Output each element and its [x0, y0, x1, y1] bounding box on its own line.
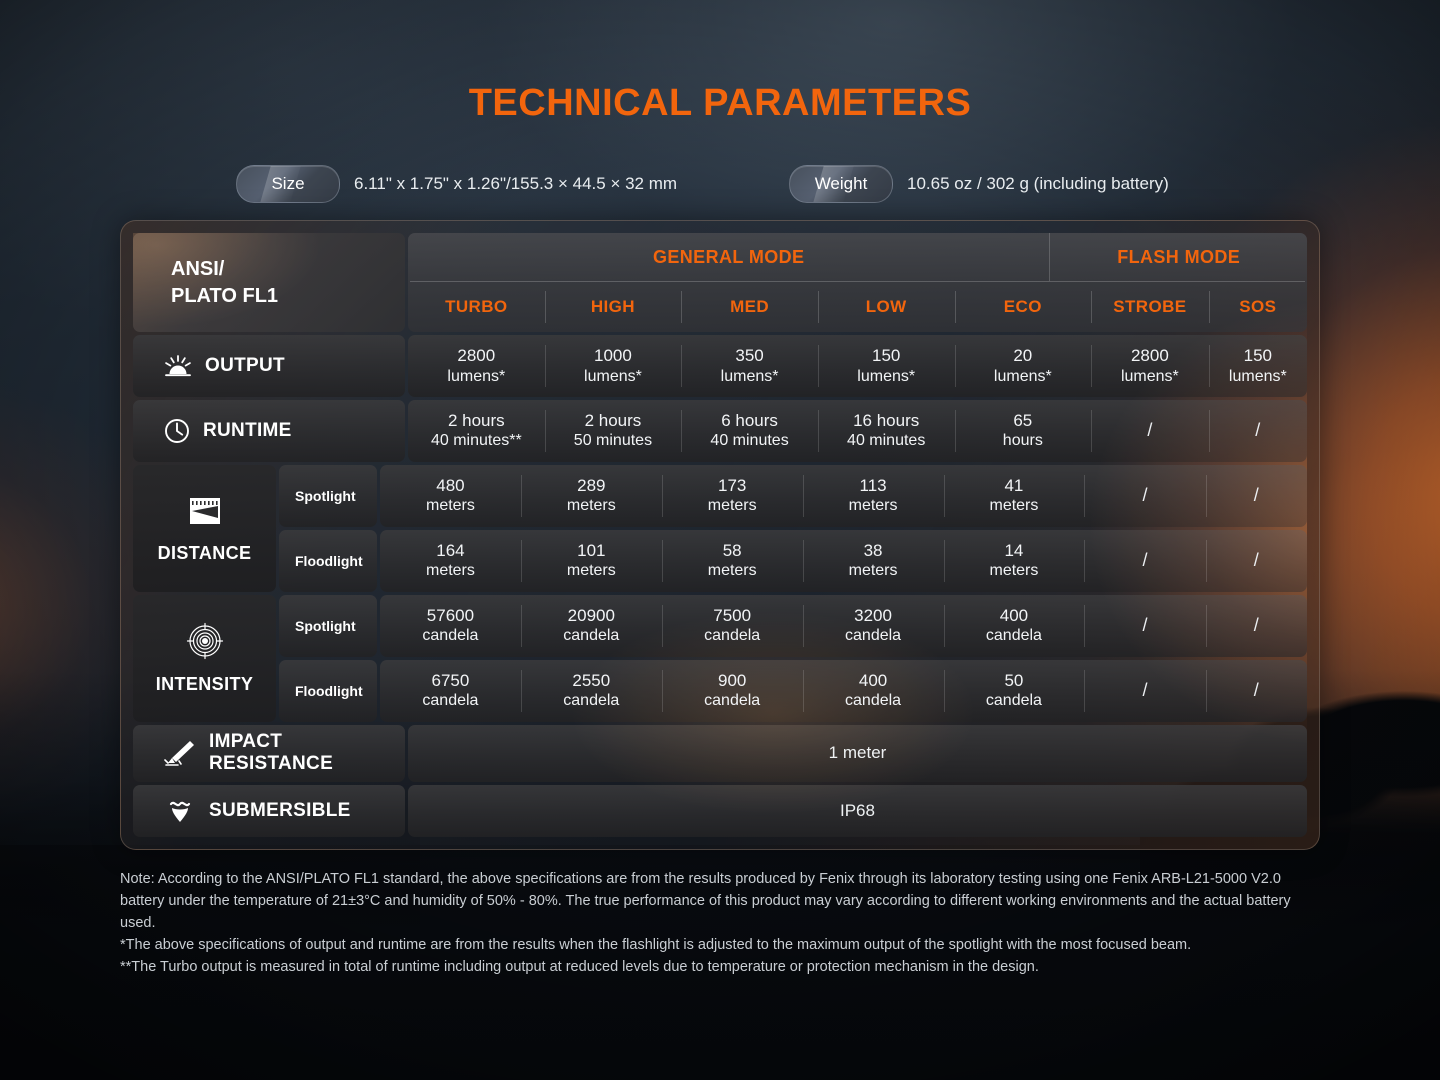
- row-distance: DISTANCE Spotlight 480meters 289meters 1…: [133, 465, 1307, 592]
- mode-group-flash: FLASH MODE: [1050, 233, 1307, 281]
- cell-output-high: 1000lumens*: [545, 335, 682, 397]
- cell-output-med: 350lumens*: [681, 335, 818, 397]
- value: 900: [718, 671, 746, 691]
- cell-dist-spot-high: 289meters: [521, 465, 662, 527]
- weight-pill-label: Weight: [815, 174, 868, 194]
- cell-runtime-strobe: /: [1091, 400, 1209, 462]
- mode-strobe: STROBE: [1091, 282, 1209, 332]
- impact-line1: IMPACT: [209, 731, 282, 752]
- specs-table: ANSI/ PLATO FL1 GENERAL MODE FLASH MODE …: [133, 233, 1307, 837]
- unit: candela: [986, 626, 1042, 645]
- value: /: [1254, 550, 1259, 572]
- cell-runtime-turbo: 2 hours40 minutes**: [408, 400, 545, 462]
- mode-high: HIGH: [545, 282, 682, 332]
- sunburst-icon: [163, 354, 193, 378]
- row-impact-value-area: 1 meter: [408, 725, 1307, 783]
- value-line1: 16 hours: [853, 411, 919, 431]
- intensity-spotlight-values: 57600candela 20900candela 7500candela 32…: [380, 595, 1307, 657]
- mode-group-row: GENERAL MODE FLASH MODE: [408, 233, 1307, 281]
- distance-spotlight-values: 480meters 289meters 173meters 113meters …: [380, 465, 1307, 527]
- row-label-output: OUTPUT: [133, 335, 405, 397]
- cell-int-flood-sos: /: [1206, 660, 1307, 722]
- value: 3200: [854, 606, 892, 626]
- value: 1000: [594, 346, 632, 366]
- mode-sos: SOS: [1209, 282, 1307, 332]
- row-submersible-value-area: IP68: [408, 785, 1307, 837]
- distance-floodlight-values: 164meters 101meters 58meters 38meters 14…: [380, 530, 1307, 592]
- cell-runtime-eco: 65hours: [955, 400, 1092, 462]
- cell-int-flood-turbo: 6750candela: [380, 660, 521, 722]
- value: 150: [872, 346, 900, 366]
- value: 113: [860, 476, 887, 496]
- unit: lumens*: [721, 367, 779, 386]
- size-spec: Size 6.11" x 1.75" x 1.26"/155.3 × 44.5 …: [236, 165, 677, 203]
- value: 41: [1004, 476, 1023, 496]
- cell-dist-flood-strobe: /: [1084, 530, 1205, 592]
- cell-dist-spot-sos: /: [1206, 465, 1307, 527]
- value: 14: [1004, 541, 1023, 561]
- value: 164: [436, 541, 464, 561]
- row-label-distance-text: DISTANCE: [158, 543, 252, 564]
- page-root: TECHNICAL PARAMETERS Size 6.11" x 1.75" …: [0, 0, 1440, 1080]
- unit: meters: [849, 561, 898, 580]
- value-line1: 6 hours: [721, 411, 778, 431]
- value: 400: [1000, 606, 1028, 626]
- row-label-distance: DISTANCE: [133, 465, 276, 592]
- row-label-submersible: SUBMERSIBLE: [133, 785, 405, 837]
- size-pill-label: Size: [271, 174, 304, 194]
- value-line1: 65: [1013, 411, 1032, 431]
- cell-dist-flood-sos: /: [1206, 530, 1307, 592]
- size-pill: Size: [236, 165, 340, 203]
- target-icon: [186, 622, 224, 660]
- footnotes: Note: According to the ANSI/PLATO FL1 st…: [120, 868, 1326, 978]
- value-line1: 2 hours: [585, 411, 642, 431]
- specs-table-panel: ANSI/ PLATO FL1 GENERAL MODE FLASH MODE …: [120, 220, 1320, 850]
- sub-label-distance-spotlight: Spotlight: [279, 465, 377, 527]
- value: /: [1254, 615, 1259, 637]
- footnote-1: Note: According to the ANSI/PLATO FL1 st…: [120, 868, 1326, 934]
- cell-int-flood-eco: 50candela: [944, 660, 1085, 722]
- unit: candela: [704, 691, 760, 710]
- unit: meters: [989, 496, 1038, 515]
- row-runtime-values: 2 hours40 minutes** 2 hours50 minutes 6 …: [408, 400, 1307, 462]
- value-line2: 40 minutes**: [431, 431, 522, 450]
- unit: meters: [989, 561, 1038, 580]
- unit: lumens*: [447, 367, 505, 386]
- standard-line1: ANSI/: [171, 256, 405, 283]
- row-label-runtime: RUNTIME: [133, 400, 405, 462]
- row-output-values: 2800lumens* 1000lumens* 350lumens* 150lu…: [408, 335, 1307, 397]
- weight-value: 10.65 oz / 302 g (including battery): [907, 174, 1169, 194]
- mode-name-row: TURBO HIGH MED LOW ECO STROBE SOS: [408, 282, 1307, 332]
- unit: meters: [849, 496, 898, 515]
- intensity-floodlight-row: Floodlight 6750candela 2550candela 900ca…: [279, 660, 1307, 722]
- cell-int-flood-med: 900candela: [662, 660, 803, 722]
- unit: lumens*: [1229, 367, 1287, 386]
- unit: meters: [567, 496, 616, 515]
- value: 20: [1013, 346, 1032, 366]
- weight-spec: Weight 10.65 oz / 302 g (including batte…: [789, 165, 1169, 203]
- cell-impact-value: 1 meter: [408, 725, 1307, 783]
- page-title: TECHNICAL PARAMETERS: [0, 82, 1440, 125]
- value: 350: [735, 346, 763, 366]
- intensity-subrows: Spotlight 57600candela 20900candela 7500…: [279, 595, 1307, 722]
- value: 400: [859, 671, 887, 691]
- mode-eco: ECO: [955, 282, 1092, 332]
- cell-int-spot-sos: /: [1206, 595, 1307, 657]
- cell-dist-flood-high: 101meters: [521, 530, 662, 592]
- weight-pill: Weight: [789, 165, 893, 203]
- cell-int-spot-eco: 400candela: [944, 595, 1085, 657]
- unit: candela: [563, 626, 619, 645]
- distance-spotlight-row: Spotlight 480meters 289meters 173meters …: [279, 465, 1307, 527]
- unit: meters: [426, 561, 475, 580]
- distance-subrows: Spotlight 480meters 289meters 173meters …: [279, 465, 1307, 592]
- unit: meters: [708, 496, 757, 515]
- footnote-2: *The above specifications of output and …: [120, 934, 1326, 956]
- row-runtime: RUNTIME 2 hours40 minutes** 2 hours50 mi…: [133, 400, 1307, 462]
- unit: lumens*: [994, 367, 1052, 386]
- cell-runtime-low: 16 hours40 minutes: [818, 400, 955, 462]
- cell-int-flood-high: 2550candela: [521, 660, 662, 722]
- cell-int-flood-low: 400candela: [803, 660, 944, 722]
- value-line1: /: [1255, 420, 1260, 442]
- mode-header-block: GENERAL MODE FLASH MODE TURBO HIGH MED L…: [408, 233, 1307, 332]
- value: 480: [436, 476, 464, 496]
- unit: lumens*: [1121, 367, 1179, 386]
- row-submersible: SUBMERSIBLE IP68: [133, 785, 1307, 837]
- cell-output-eco: 20lumens*: [955, 335, 1092, 397]
- value: /: [1142, 680, 1147, 702]
- value: 6750: [432, 671, 470, 691]
- unit: candela: [845, 691, 901, 710]
- unit: candela: [845, 626, 901, 645]
- value: 101: [577, 541, 605, 561]
- row-output: OUTPUT 2800lumens* 1000lumens* 350lumens…: [133, 335, 1307, 397]
- cell-dist-spot-eco: 41meters: [944, 465, 1085, 527]
- mode-turbo: TURBO: [408, 282, 545, 332]
- value-line2: hours: [1003, 431, 1043, 450]
- value: /: [1142, 485, 1147, 507]
- row-impact-resistance: IMPACT RESISTANCE 1 meter: [133, 725, 1307, 783]
- standard-line2: PLATO FL1: [171, 283, 405, 310]
- value-line2: 40 minutes: [710, 431, 788, 450]
- value-line2: 40 minutes: [847, 431, 925, 450]
- row-label-runtime-text: RUNTIME: [203, 420, 292, 442]
- unit: candela: [422, 691, 478, 710]
- cell-dist-spot-strobe: /: [1084, 465, 1205, 527]
- cell-output-sos: 150lumens*: [1209, 335, 1307, 397]
- cell-runtime-sos: /: [1209, 400, 1307, 462]
- value: 7500: [713, 606, 751, 626]
- row-label-output-text: OUTPUT: [205, 355, 285, 377]
- mode-med: MED: [681, 282, 818, 332]
- value: 289: [577, 476, 605, 496]
- cell-dist-spot-turbo: 480meters: [380, 465, 521, 527]
- row-label-submersible-text: SUBMERSIBLE: [209, 800, 351, 822]
- unit: candela: [986, 691, 1042, 710]
- unit: candela: [563, 691, 619, 710]
- row-label-intensity-text: INTENSITY: [156, 674, 254, 695]
- mode-group-general: GENERAL MODE: [408, 233, 1050, 281]
- distance-floodlight-row: Floodlight 164meters 101meters 58meters …: [279, 530, 1307, 592]
- value: /: [1254, 485, 1259, 507]
- cell-int-spot-turbo: 57600candela: [380, 595, 521, 657]
- cell-dist-flood-eco: 14meters: [944, 530, 1085, 592]
- row-intensity: INTENSITY Spotlight 57600candela 20900ca…: [133, 595, 1307, 722]
- cell-int-spot-low: 3200candela: [803, 595, 944, 657]
- clock-icon: [163, 417, 191, 445]
- cell-int-flood-strobe: /: [1084, 660, 1205, 722]
- value: /: [1254, 680, 1259, 702]
- sub-label-distance-floodlight: Floodlight: [279, 530, 377, 592]
- mode-low: LOW: [818, 282, 955, 332]
- size-value: 6.11" x 1.75" x 1.26"/155.3 × 44.5 × 32 …: [354, 174, 677, 194]
- cell-output-turbo: 2800lumens*: [408, 335, 545, 397]
- intensity-spotlight-row: Spotlight 57600candela 20900candela 7500…: [279, 595, 1307, 657]
- cell-int-spot-med: 7500candela: [662, 595, 803, 657]
- impact-line2: RESISTANCE: [209, 753, 333, 774]
- value-line1: 2 hours: [448, 411, 505, 431]
- unit: lumens*: [857, 367, 915, 386]
- value: 2800: [457, 346, 495, 366]
- water-drop-icon: [163, 798, 197, 824]
- cell-dist-flood-turbo: 164meters: [380, 530, 521, 592]
- unit: candela: [704, 626, 760, 645]
- row-label-impact-text: IMPACT RESISTANCE: [209, 731, 333, 777]
- standard-label: ANSI/ PLATO FL1: [133, 233, 405, 332]
- impact-icon: [163, 738, 197, 768]
- unit: meters: [426, 496, 475, 515]
- cell-int-spot-strobe: /: [1084, 595, 1205, 657]
- footnote-3: **The Turbo output is measured in total …: [120, 956, 1326, 978]
- value: /: [1142, 550, 1147, 572]
- cell-dist-flood-med: 58meters: [662, 530, 803, 592]
- value: 20900: [568, 606, 615, 626]
- cell-submersible-value: IP68: [408, 785, 1307, 837]
- cell-int-spot-high: 20900candela: [521, 595, 662, 657]
- unit: meters: [708, 561, 757, 580]
- value: 38: [864, 541, 883, 561]
- cell-dist-flood-low: 38meters: [803, 530, 944, 592]
- value: 150: [1244, 346, 1272, 366]
- value: /: [1142, 615, 1147, 637]
- value: 57600: [427, 606, 474, 626]
- value-line2: 50 minutes: [574, 431, 652, 450]
- unit: meters: [567, 561, 616, 580]
- cell-dist-spot-low: 113meters: [803, 465, 944, 527]
- cell-output-strobe: 2800lumens*: [1091, 335, 1209, 397]
- row-label-intensity: INTENSITY: [133, 595, 276, 722]
- ruler-beam-icon: [185, 493, 225, 529]
- value: 173: [718, 476, 746, 496]
- unit: candela: [422, 626, 478, 645]
- row-label-impact: IMPACT RESISTANCE: [133, 725, 405, 783]
- sub-label-intensity-spotlight: Spotlight: [279, 595, 377, 657]
- cell-runtime-high: 2 hours50 minutes: [545, 400, 682, 462]
- value: 2800: [1131, 346, 1169, 366]
- cell-output-low: 150lumens*: [818, 335, 955, 397]
- sub-label-intensity-floodlight: Floodlight: [279, 660, 377, 722]
- value: 50: [1004, 671, 1023, 691]
- unit: lumens*: [584, 367, 642, 386]
- cell-dist-spot-med: 173meters: [662, 465, 803, 527]
- intensity-floodlight-values: 6750candela 2550candela 900candela 400ca…: [380, 660, 1307, 722]
- cell-runtime-med: 6 hours40 minutes: [681, 400, 818, 462]
- value: 2550: [572, 671, 610, 691]
- value-line1: /: [1147, 420, 1152, 442]
- table-header: ANSI/ PLATO FL1 GENERAL MODE FLASH MODE …: [133, 233, 1307, 332]
- value: 58: [723, 541, 742, 561]
